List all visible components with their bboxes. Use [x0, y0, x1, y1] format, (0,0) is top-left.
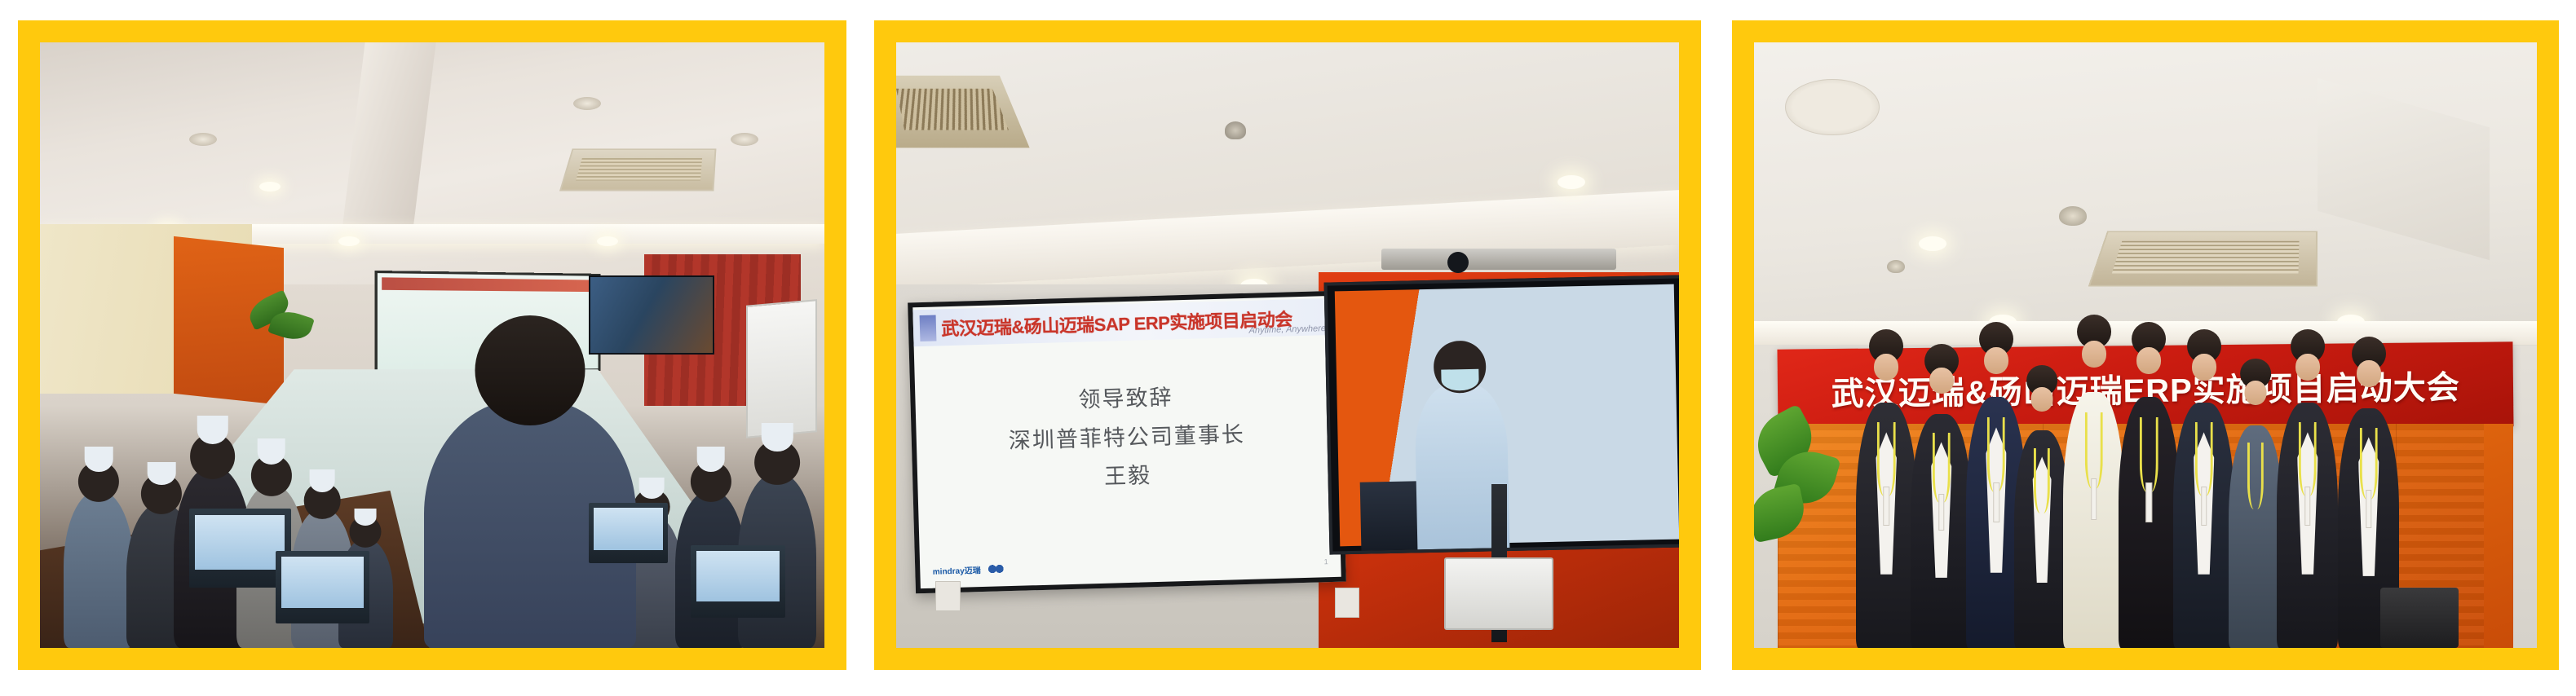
laptop [691, 545, 784, 618]
participant [2229, 425, 2283, 648]
whiteboard [746, 300, 817, 439]
laptop [276, 551, 369, 623]
slide-body [378, 305, 599, 306]
laptop [589, 503, 667, 563]
downlight-icon [338, 236, 360, 246]
participant [1911, 414, 1972, 648]
chair [2380, 588, 2459, 648]
slide-banner [382, 277, 594, 292]
participant [2014, 430, 2069, 648]
downlight-icon [259, 182, 281, 192]
potted-plant [1754, 406, 1840, 612]
participant [2277, 403, 2338, 648]
projection-screen-speech-photo[interactable]: 武汉迈瑞&砀山迈瑞SAP ERP实施项目启动会 Anytime, Anywher… [896, 42, 1679, 648]
round-ceiling-vent-icon [1785, 79, 1879, 135]
slide-banner-tick [919, 315, 936, 341]
downlight-icon [1919, 236, 1946, 251]
group-photo-under-red-banner[interactable]: 武汉迈瑞&砀山迈瑞ERP实施项目启动大会 [1754, 42, 2537, 648]
participant [1856, 403, 1917, 648]
smoke-detector-icon [573, 97, 601, 110]
ceiling-vent-icon [2088, 231, 2318, 286]
slide-banner-text: 武汉迈瑞&砀山迈瑞SAP ERP实施项目启动会 [941, 305, 1292, 341]
wall-outlet [1335, 588, 1360, 618]
slide-line-2 [378, 305, 599, 306]
photo-frame-2[interactable]: 武汉迈瑞&砀山迈瑞SAP ERP实施项目启动会 Anytime, Anywher… [874, 20, 1701, 670]
participant [2119, 397, 2180, 648]
slide-footer: mindray迈瑞 [933, 562, 1005, 576]
photo-gallery: 武汉迈瑞&砀山迈瑞SAP ERP实施项目启动会 Anytime, Anywher… [0, 0, 2576, 696]
participant [2063, 392, 2124, 648]
boardroom-kickoff-meeting-photo[interactable] [40, 42, 824, 648]
downlight-icon [597, 236, 618, 246]
participant [2173, 403, 2234, 648]
slide-line-1 [378, 305, 599, 306]
slide-banner: 武汉迈瑞&砀山迈瑞SAP ERP实施项目启动会 [913, 298, 1335, 346]
photo-frame-1[interactable] [18, 20, 846, 670]
photo-frame-3[interactable]: 武汉迈瑞&砀山迈瑞ERP实施项目启动大会 [1732, 20, 2559, 670]
potted-plant [244, 291, 315, 358]
slide-body: 领导致辞 深圳普菲特公司董事长 王毅 [915, 374, 1339, 501]
slide-page-number: 1 [1324, 557, 1328, 566]
smoke-detector-icon [2059, 206, 2087, 226]
wall-outlet [935, 581, 961, 611]
projection-screen[interactable]: 武汉迈瑞&砀山迈瑞SAP ERP实施项目启动会 Anytime, Anywher… [908, 291, 1346, 593]
partner-logo-icon [988, 563, 1005, 575]
group-of-participants [1856, 369, 2467, 648]
video-camera-icon [1381, 249, 1616, 270]
slide-line-3 [378, 305, 599, 306]
control-tablet[interactable] [1444, 557, 1553, 630]
slide-footer-logo-text: mindray迈瑞 [933, 563, 981, 577]
smoke-detector-icon [1225, 121, 1246, 139]
ceiling-vent-icon [559, 149, 715, 192]
video-conference-tv [589, 275, 714, 355]
attendee [64, 491, 135, 648]
